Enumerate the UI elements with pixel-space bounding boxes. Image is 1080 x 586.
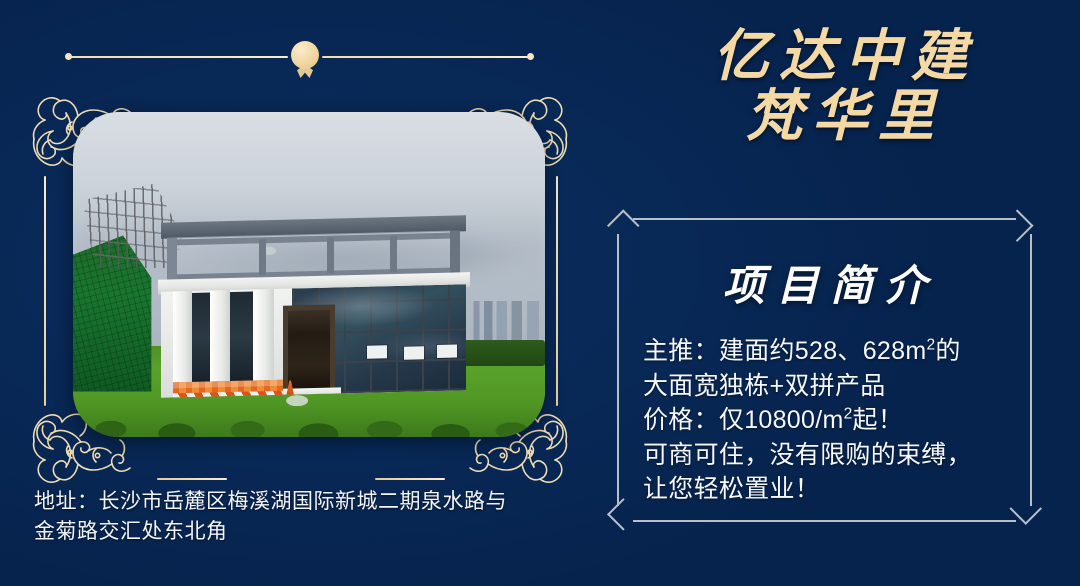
- intro-line-1: 主推：建面约528、628m2的: [643, 334, 1018, 369]
- intro-line-3: 价格：仅10800/m2起！: [643, 403, 1018, 438]
- intro-line-3-suffix: 起！: [853, 406, 904, 434]
- brand-title-line-1: 亿达中建: [600, 28, 1080, 86]
- pergola-mullion-3: [390, 236, 397, 272]
- panel-border-bottom: [633, 520, 1016, 522]
- entrance-step: [277, 388, 341, 398]
- window-bay-2: [228, 292, 252, 383]
- brand-title-line-2: 梵华里: [600, 86, 1080, 149]
- intro-line-1-prefix: 主推：建面约528、628m: [643, 337, 926, 365]
- glass-poster-1: [367, 346, 387, 359]
- intro-line-1-suffix: 的: [935, 337, 960, 365]
- frame-dot-left: [65, 53, 72, 60]
- address-line-2: 金菊路交汇处东北角: [34, 517, 594, 547]
- building-facade: [161, 285, 466, 398]
- panel-corner-top-left: [607, 209, 640, 242]
- project-building-photo: [73, 112, 545, 437]
- left-panel: 地址：长沙市岳麓区梅溪湖国际新城二期泉水路与 金菊路交汇处东北角: [0, 0, 600, 586]
- panel-title: 项目简介: [617, 252, 1032, 313]
- panel-corner-top-right: [1001, 209, 1034, 242]
- panel-border-top: [633, 218, 1016, 220]
- window-bay-1: [189, 293, 210, 384]
- frame-line-top-right: [322, 56, 530, 58]
- right-panel: 亿达中建 梵华里 项目简介 主推：建面约528、628m2的 大面宽独栋+双拼产…: [600, 0, 1080, 586]
- panel-body-text: 主推：建面约528、628m2的 大面宽独栋+双拼产品 价格：仅10800/m2…: [643, 334, 1018, 507]
- frame-line-bottom-left: [157, 478, 227, 480]
- intro-line-4: 可商可住，没有限购的束缚，: [643, 438, 1018, 473]
- glass-poster-3: [437, 345, 457, 358]
- frame-line-left: [44, 176, 46, 406]
- glass-poster-2: [404, 347, 424, 360]
- brand-title: 亿达中建 梵华里: [600, 28, 1080, 149]
- pergola-mullion-1: [259, 239, 266, 275]
- poster-canvas: 地址：长沙市岳麓区梅溪湖国际新城二期泉水路与 金菊路交汇处东北角 亿达中建 梵华…: [0, 0, 1080, 586]
- frame-dot-right: [527, 53, 534, 60]
- intro-line-5: 让您轻松置业！: [643, 472, 1018, 507]
- intro-line-3-prefix: 价格：仅10800/m: [643, 406, 844, 434]
- project-intro-panel: 项目简介 主推：建面约528、628m2的 大面宽独栋+双拼产品 价格：仅108…: [617, 218, 1032, 522]
- frame-line-bottom-right: [375, 478, 445, 480]
- pergola-mullion-2: [327, 238, 334, 274]
- main-building: [158, 219, 470, 401]
- panel-corner-bottom-left: [607, 498, 640, 531]
- address-block: 地址：长沙市岳麓区梅溪湖国际新城二期泉水路与 金菊路交汇处东北角: [34, 487, 594, 547]
- intro-line-2: 大面宽独栋+双拼产品: [643, 369, 1018, 404]
- frame-line-top-left: [68, 56, 288, 58]
- photo-scene: [73, 112, 545, 437]
- barrier-hazard-stripe: [173, 392, 283, 398]
- frame-line-right: [556, 176, 558, 406]
- address-line-1: 地址：长沙市岳麓区梅溪湖国际新城二期泉水路与: [34, 487, 594, 517]
- foreground-shrubs: [73, 402, 545, 437]
- intro-line-3-sup: 2: [844, 406, 853, 423]
